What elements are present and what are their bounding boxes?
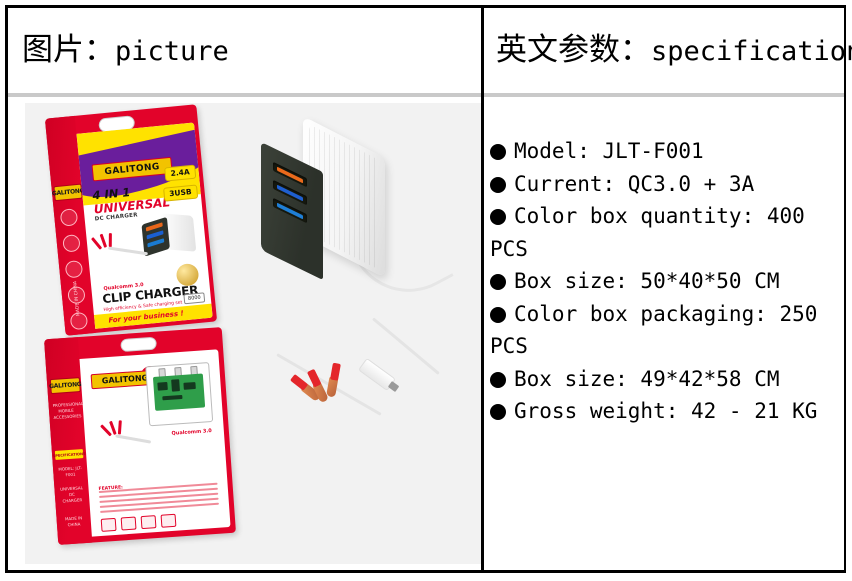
- box-back-spine-type: UNIVERSAL DC CHARGER: [58, 485, 85, 505]
- list-item: Color box packaging: 250 PCS: [490, 298, 840, 363]
- box-back-spine-model: MODEL: JLT-F001: [57, 465, 84, 479]
- box-art-clip-3: [109, 233, 112, 247]
- header-specifications-latin: specifications: [651, 36, 852, 67]
- port-2-insert: [277, 184, 303, 201]
- specifications-cell: Model: JLT-F001 Current: QC3.0 + 3A Colo…: [484, 97, 844, 570]
- box-front-product-art: [141, 211, 199, 256]
- spec-icon-1: [101, 518, 117, 532]
- pcb-board: [153, 373, 205, 410]
- box-front-spine-logo: GALITONG: [53, 184, 82, 202]
- page-root: 图片：picture 英文参数：specifications GALITONG: [0, 0, 852, 581]
- header-cell-picture: 图片：picture: [8, 8, 481, 93]
- box-back-icon-row: [101, 514, 177, 532]
- list-item: Color box quantity: 400 PCS: [490, 200, 840, 265]
- feature-icon-2: [62, 234, 81, 253]
- product-spec-table: 图片：picture 英文参数：specifications GALITONG: [5, 5, 846, 573]
- spec-icon-2: [121, 517, 137, 531]
- bullet-icon: [490, 177, 506, 193]
- box-back-qc-logo: Qualcomm 3.0: [171, 428, 212, 437]
- header-specifications-cjk: 英文参数：: [496, 32, 651, 68]
- box-front-cable-art: [92, 232, 147, 271]
- retail-box-back-image: GALITONG PROFESSIONAL MOBILE ACCESSORIES…: [44, 327, 236, 545]
- header-picture-latin: picture: [115, 36, 229, 67]
- bullet-icon: [490, 209, 506, 225]
- feature-icon-1: [60, 208, 79, 227]
- box-front-face: GALITONG 4 IN 1 UNIVERSAL DC CHARGER 2.4…: [76, 123, 212, 329]
- spec-text: Box size: 50*40*50 CM: [514, 269, 780, 293]
- charger-device-image: [261, 141, 411, 291]
- header-specifications-text: 英文参数：specifications: [496, 33, 852, 67]
- bullet-icon: [490, 274, 506, 290]
- box-front-warranty-badge: 8000: [184, 292, 206, 304]
- product-photo: GALITONG MADE IN CHINA GAL: [25, 103, 481, 564]
- box-back-face: GALITONG: [79, 349, 230, 536]
- spec-icon-3: [141, 515, 157, 529]
- port-3-insert: [277, 202, 303, 219]
- spec-text: Model: JLT-F001: [514, 139, 704, 163]
- pcb-component-2: [171, 379, 180, 392]
- specifications-list: Model: JLT-F001 Current: QC3.0 + 3A Colo…: [490, 135, 840, 428]
- box-back-spine-text: PROFESSIONAL MOBILE ACCESSORIES: [52, 401, 79, 421]
- box-back-hang-hole: [120, 337, 157, 352]
- box-back-clip-3: [118, 420, 122, 434]
- spec-text: Color box quantity: 400 PCS: [490, 204, 805, 261]
- bullet-icon: [490, 404, 506, 420]
- list-item: Box size: 49*42*58 CM: [490, 363, 840, 396]
- spec-text: Color box packaging: 250 PCS: [490, 302, 817, 359]
- list-item: Model: JLT-F001: [490, 135, 840, 168]
- usb-connector: [358, 358, 396, 391]
- box-back-spine-logo: GALITONG: [50, 377, 81, 394]
- port-1-insert: [277, 166, 303, 183]
- feature-icon-3: [65, 260, 84, 279]
- pcb-component-4: [162, 395, 182, 400]
- box-art-port-3: [147, 238, 164, 247]
- alligator-clip-cable-image: [277, 347, 437, 467]
- list-item: Current: QC3.0 + 3A: [490, 168, 840, 201]
- header-cell-specifications: 英文参数：specifications: [484, 8, 844, 93]
- list-item: Box size: 50*40*50 CM: [490, 265, 840, 298]
- bullet-icon: [490, 144, 506, 160]
- box-art-cable-wire: [108, 246, 148, 255]
- spec-text: Gross weight: 42 - 21 KG: [514, 399, 817, 423]
- cable-wire-right: [372, 317, 440, 375]
- list-item: Gross weight: 42 - 21 KG: [490, 395, 840, 428]
- clip-3-boot: [330, 363, 341, 381]
- retail-box-front-image: GALITONG MADE IN CHINA GAL: [45, 104, 217, 336]
- pcb-component-1: [157, 382, 168, 391]
- spec-text: Current: QC3.0 + 3A: [514, 172, 754, 196]
- bullet-icon: [490, 372, 506, 388]
- bullet-icon: [490, 307, 506, 323]
- box-back-cable-wire: [115, 434, 151, 443]
- box-back-spine-tag: SPECIFICATIONS: [55, 449, 84, 460]
- box-back-cable-art: [98, 416, 161, 460]
- box-front-badge-ports: 3USB: [163, 185, 199, 202]
- box-back-spine-origin: MADE IN CHINA: [60, 515, 87, 529]
- header-picture-text: 图片：picture: [22, 33, 229, 67]
- pcb-component-3: [183, 382, 195, 390]
- spec-icon-4: [161, 514, 177, 528]
- picture-cell: GALITONG MADE IN CHINA GAL: [8, 97, 481, 570]
- header-picture-cjk: 图片：: [22, 32, 115, 68]
- spec-text: Box size: 49*42*58 CM: [514, 367, 780, 391]
